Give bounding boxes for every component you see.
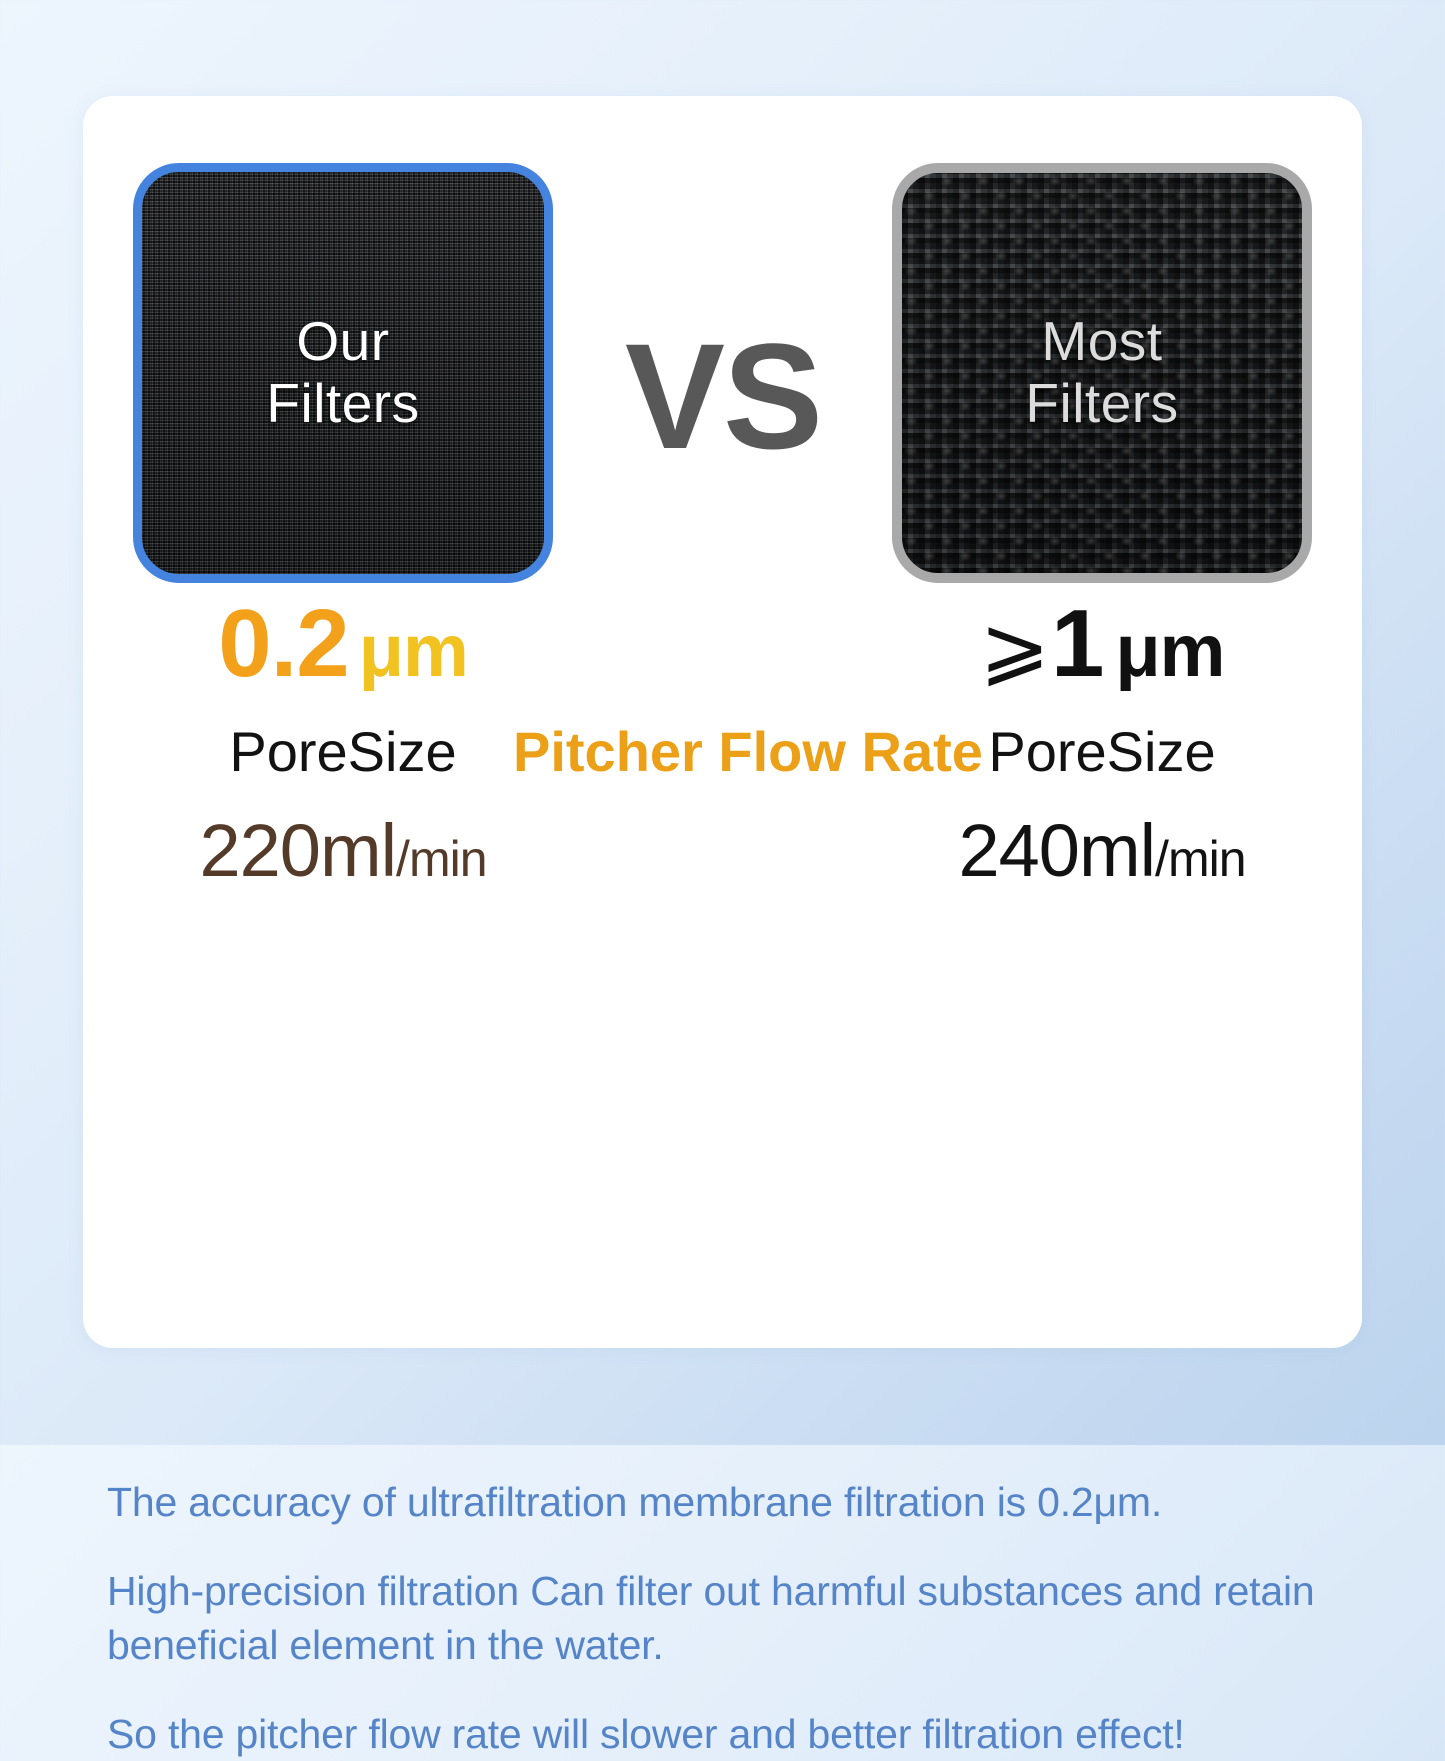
most-pore-size-number: 1 [1051,590,1103,697]
most-flow-rate-value: 240ml/min [892,814,1312,888]
spec-label-row: PoreSize Pitcher Flow Rate PoreSize [83,724,1362,814]
filter-tiles-row: Our Filters VS Most Filters [83,96,1362,596]
comparison-card: Our Filters VS Most Filters 0.2μm ⩾1μm [83,96,1362,1348]
our-filter-tile: Our Filters [133,163,553,583]
our-pore-size-label: PoreSize [229,720,456,783]
spec-table: 0.2μm ⩾1μm PoreSize Pitcher Flow Rate [83,596,1362,909]
infographic-stage: Our Filters VS Most Filters 0.2μm ⩾1μm [0,0,1445,1445]
note-line-3: So the pitcher flow rate will slower and… [107,1708,1357,1761]
our-flow-rate-main: 220ml [199,809,396,892]
our-flow-rate-unit: /min [396,831,486,887]
greater-equal-icon: ⩾ [980,600,1049,694]
note-line-2: High-precision filtration Can filter out… [107,1565,1357,1672]
our-pore-size-value: 0.2μm [133,596,553,692]
most-pore-size-label-cell: PoreSize [892,724,1312,780]
most-filters-tile: Most Filters [892,163,1312,583]
most-flow-rate-unit: /min [1155,831,1245,887]
our-pore-size-label-cell: PoreSize [133,724,553,780]
note-line-1: The accuracy of ultrafiltration membrane… [107,1476,1357,1529]
most-pore-size-value: ⩾1μm [892,596,1312,692]
most-filters-tile-label: Most Filters [1025,311,1178,434]
our-flow-rate-value: 220ml/min [133,814,553,888]
flow-rate-heading-cell: Pitcher Flow Rate [513,724,933,780]
our-pore-size-number: 0.2 [218,590,348,697]
flow-rate-value-row: 220ml/min 240ml/min [83,814,1362,909]
most-pore-size-label: PoreSize [988,720,1215,783]
vs-label: VS [603,321,843,471]
most-pore-size-unit: μm [1115,609,1224,692]
our-pore-size-unit: μm [359,609,468,692]
our-filter-tile-label: Our Filters [266,311,419,434]
pore-size-value-row: 0.2μm ⩾1μm [83,596,1362,724]
notes-block: The accuracy of ultrafiltration membrane… [107,1476,1357,1761]
most-flow-rate-main: 240ml [958,809,1155,892]
